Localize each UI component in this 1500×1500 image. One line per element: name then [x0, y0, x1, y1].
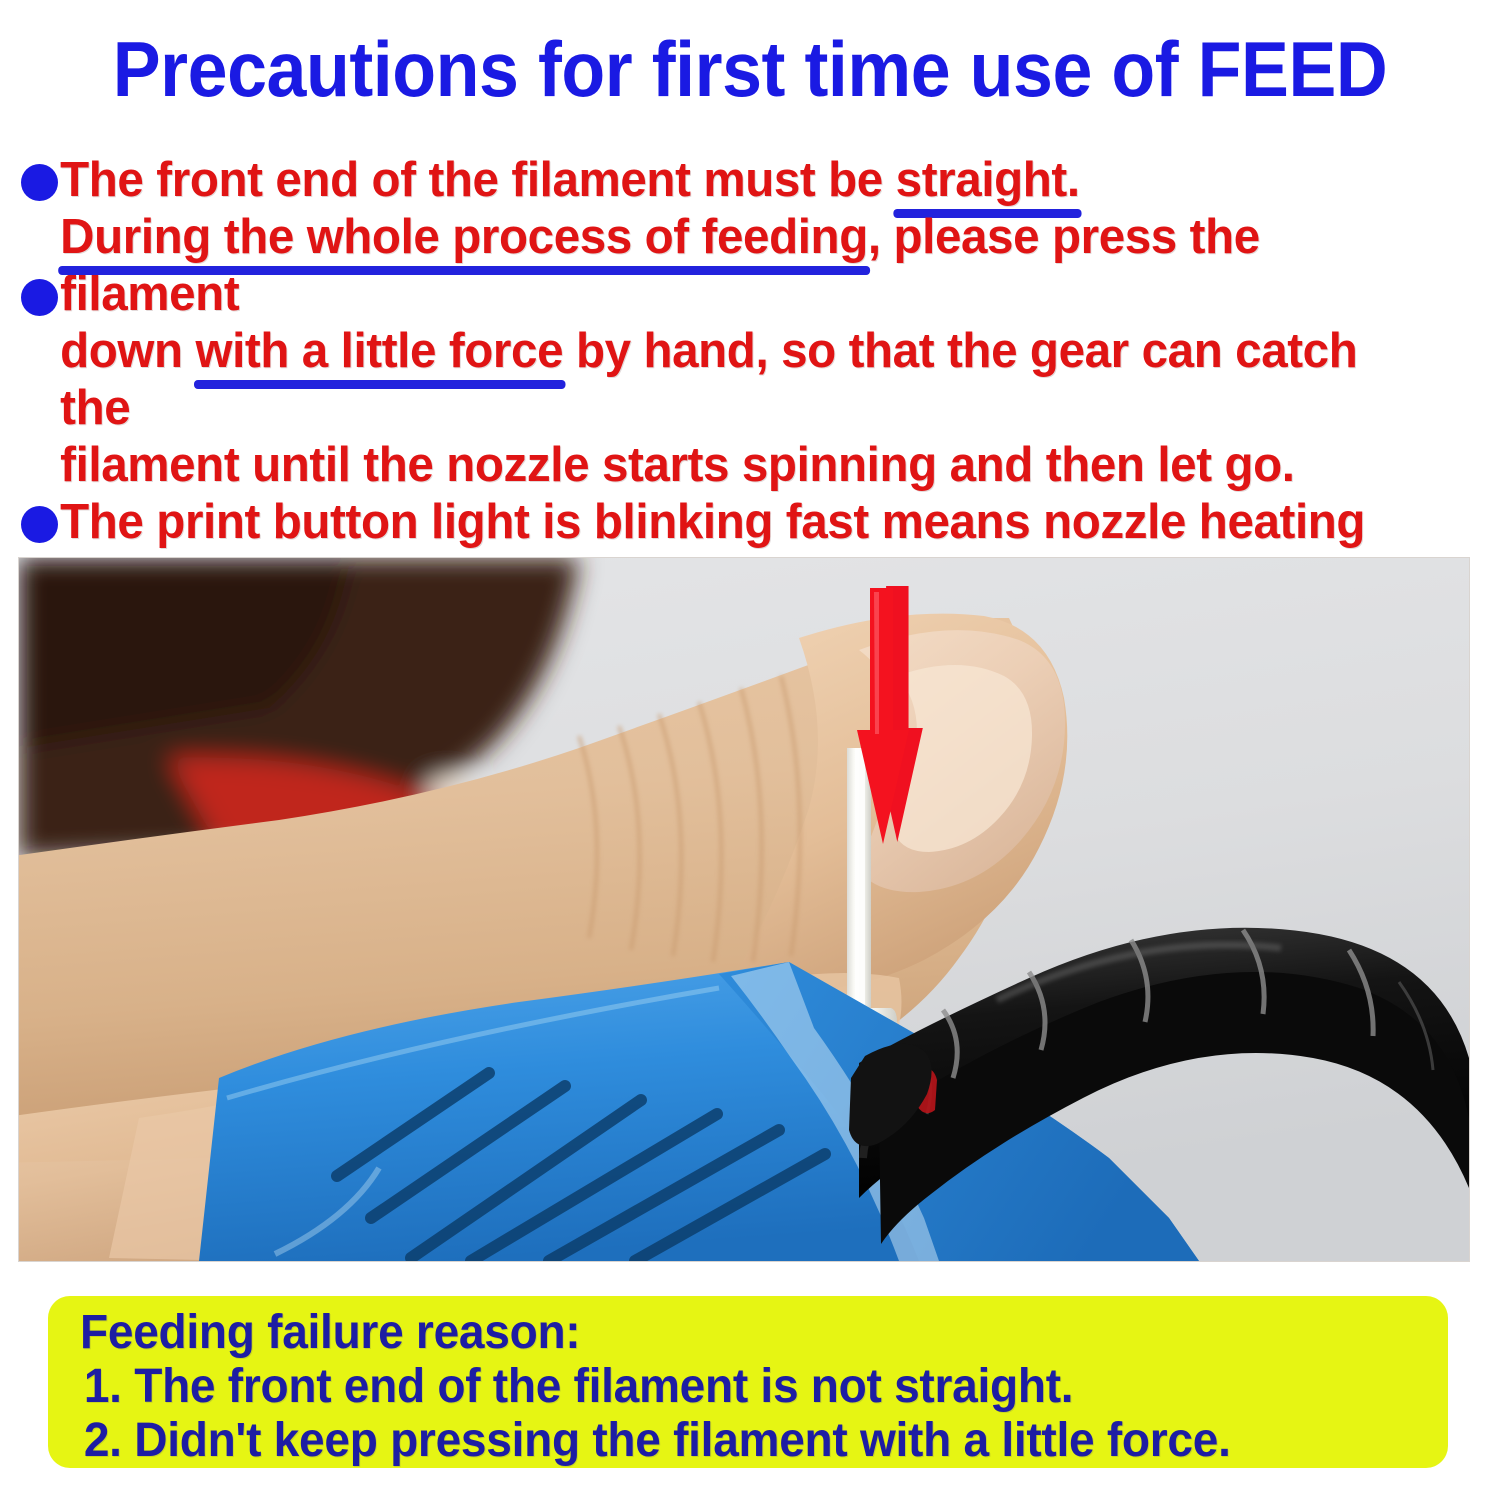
page-title: Precautions for first time use of FEED: [60, 26, 1440, 112]
list-item: The front end of the filament must be st…: [0, 152, 1500, 209]
bullet-1-line-1: The front end of the filament must be st…: [0, 152, 1455, 209]
bullet-1-seg-1: The front end of the filament must be: [60, 153, 896, 207]
bullet-1-seg-2-underlined: straight.: [896, 152, 1080, 209]
note-item-1: 1. The front end of the filament is not …: [80, 1360, 1393, 1414]
failure-reason-note: Feeding failure reason: 1. The front end…: [48, 1296, 1448, 1468]
list-item: During the whole process of feeding, ple…: [0, 209, 1500, 494]
bullet-2-seg-1-underlined: During the whole process of feeding: [60, 209, 868, 266]
instruction-photo: [18, 557, 1470, 1262]
bullet-2-seg-3: down: [60, 324, 195, 378]
photo-illustration: [19, 558, 1469, 1261]
note-heading: Feeding failure reason:: [80, 1306, 1393, 1360]
bullet-2-line-2: down with a little force by hand, so tha…: [0, 323, 1455, 437]
note-item-2: 2. Didn't keep pressing the filament wit…: [80, 1414, 1393, 1468]
bullet-2-seg-4-underlined: with a little force: [195, 323, 563, 380]
bullet-2-line-1: During the whole process of feeding, ple…: [0, 209, 1455, 323]
bullet-2-line-3: filament until the nozzle starts spinnin…: [0, 437, 1455, 494]
